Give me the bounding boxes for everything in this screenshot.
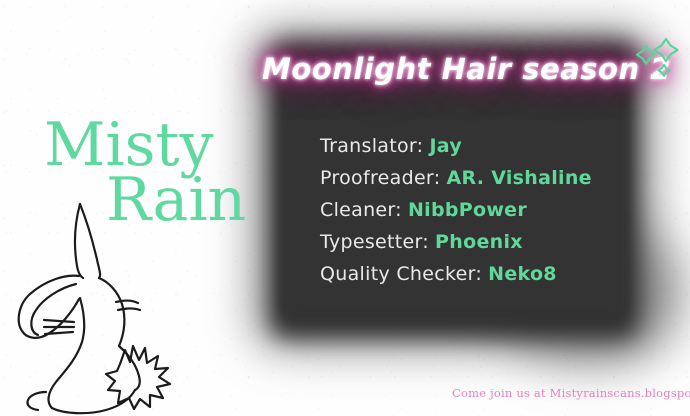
credit-row: Proofreader: AR. Vishaline [320, 162, 592, 194]
scanlation-credit-page: Moonlight Hair season 2 Translator: Jay … [0, 0, 690, 416]
credit-role: Proofreader: [320, 167, 440, 189]
credit-role: Translator: [320, 135, 423, 157]
credit-row: Translator: Jay [320, 130, 592, 162]
credit-name: Phoenix [435, 231, 523, 253]
credit-name: Jay [429, 135, 462, 157]
sparkle-group [636, 34, 690, 84]
series-title: Moonlight Hair season 2 [262, 52, 662, 86]
credit-row: Quality Checker: Neko8 [320, 258, 592, 290]
credit-name: AR. Vishaline [446, 167, 591, 189]
sparkle-star-icon [636, 34, 690, 84]
credit-role: Typesetter: [320, 231, 429, 253]
credits-list: Translator: Jay Proofreader: AR. Vishali… [320, 130, 592, 290]
credit-role: Quality Checker: [320, 263, 482, 285]
group-logo-line-rain: Rain [106, 173, 246, 228]
site-footer-text: Come join us at Mistyrainscans.blogspot.… [452, 386, 690, 400]
credit-role: Cleaner: [320, 199, 402, 221]
credit-row: Cleaner: NibbPower [320, 194, 592, 226]
credit-row: Typesetter: Phoenix [320, 226, 592, 258]
credit-name: Neko8 [488, 263, 557, 285]
credit-name: NibbPower [408, 199, 527, 221]
group-logo: Misty Rain [44, 118, 246, 228]
